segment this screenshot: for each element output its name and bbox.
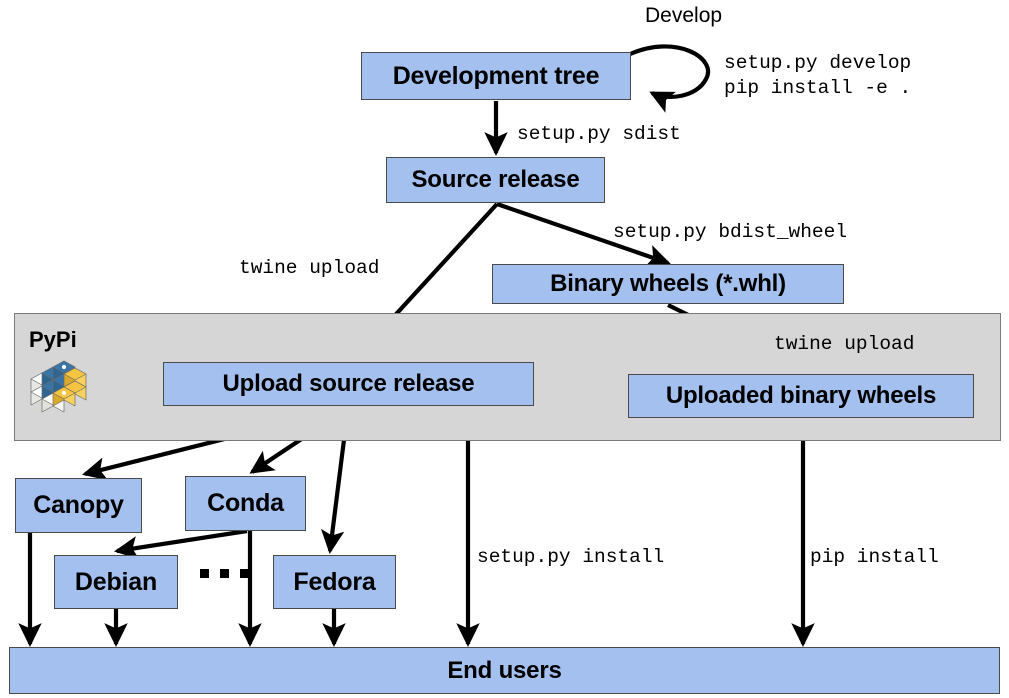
node-label: Uploaded binary wheels (666, 382, 936, 410)
pypi-cubes-logo (27, 352, 89, 419)
node-label: Binary wheels (*.whl) (550, 270, 786, 298)
node-upload-source: Upload source release (163, 362, 534, 406)
edge-conda-to-debian (117, 531, 247, 551)
develop-label: Develop (645, 4, 722, 28)
node-label: Conda (207, 489, 284, 518)
diagram-canvas: PyPi (0, 0, 1009, 698)
node-label: Development tree (393, 62, 600, 91)
node-development-tree: Development tree (361, 52, 631, 100)
node-label: Canopy (33, 491, 123, 520)
pip-install-label: pip install (810, 545, 939, 570)
setup-develop-label: setup.py develop pip install -e . (724, 51, 911, 101)
ellipsis-dot (220, 569, 229, 578)
node-debian: Debian (54, 555, 178, 609)
ellipsis-dot (200, 569, 209, 578)
bdist-wheel-label: setup.py bdist_wheel (613, 220, 847, 245)
node-label: Upload source release (223, 370, 475, 398)
setup-install-label: setup.py install (477, 545, 664, 570)
node-label: Debian (75, 568, 157, 597)
node-label: Source release (412, 166, 580, 194)
twine-upload-left: twine upload (239, 256, 379, 281)
node-label: Fedora (293, 568, 375, 597)
node-conda: Conda (185, 476, 306, 531)
twine-upload-right: twine upload (774, 332, 914, 357)
node-uploaded-binary: Uploaded binary wheels (628, 374, 974, 418)
sdist-label: setup.py sdist (517, 122, 681, 147)
node-binary-wheels: Binary wheels (*.whl) (492, 264, 844, 304)
node-label: End users (447, 657, 561, 685)
pypi-region-title: PyPi (29, 327, 77, 353)
node-canopy: Canopy (15, 478, 142, 533)
ellipsis-dot (240, 569, 249, 578)
node-fedora: Fedora (273, 555, 396, 609)
node-source-release: Source release (386, 157, 605, 203)
edge-develop-loop (628, 46, 708, 96)
more-distros-ellipsis (200, 569, 249, 578)
node-end-users: End users (9, 647, 1000, 694)
